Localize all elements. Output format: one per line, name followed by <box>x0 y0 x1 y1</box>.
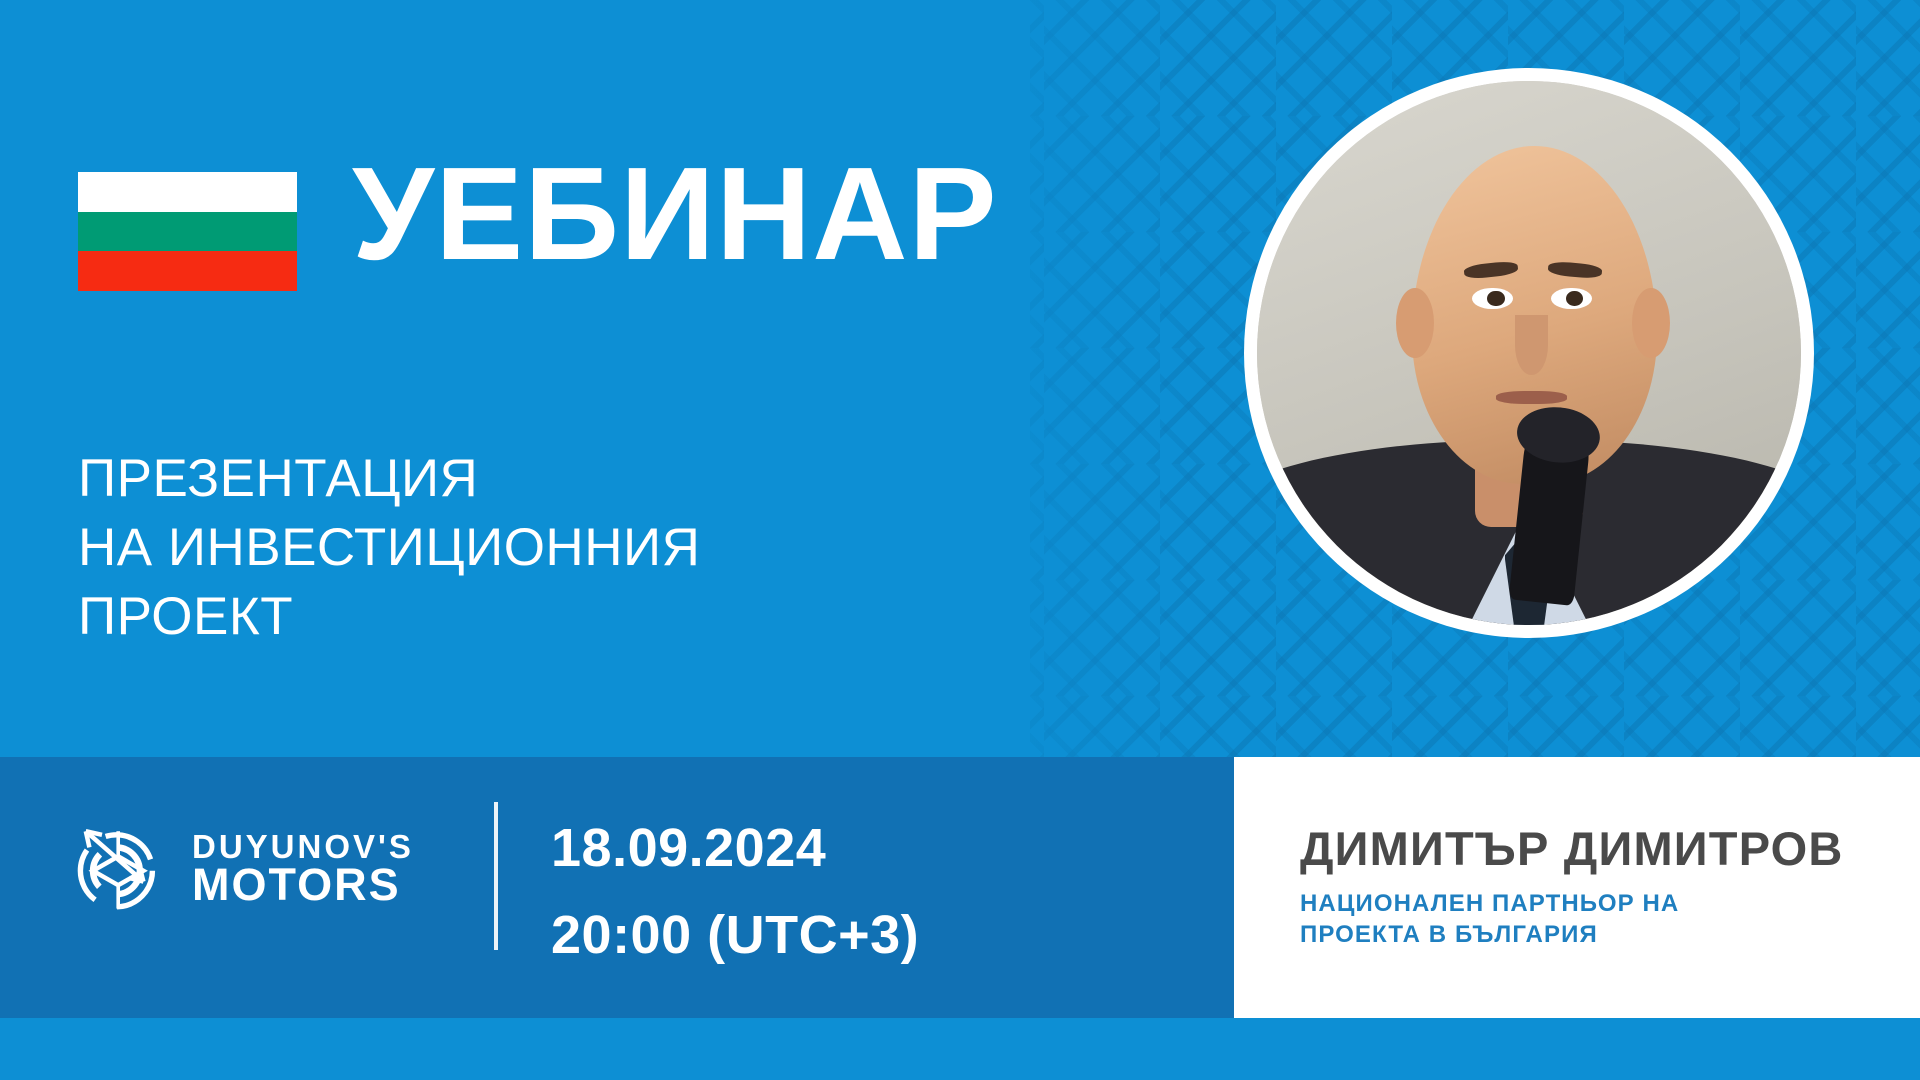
photo-eye-right <box>1551 288 1592 310</box>
speaker-photo <box>1257 81 1801 625</box>
flag-stripe-red <box>78 251 297 291</box>
photo-eye-left <box>1472 288 1513 310</box>
webinar-banner: УЕБИНАР ПРЕЗЕНТАЦИЯ НА ИНВЕСТИЦИОННИЯ ПР… <box>0 0 1920 1080</box>
subtitle-line-3: ПРОЕКТ <box>78 583 700 652</box>
duyunovs-motors-emblem-icon <box>66 815 174 923</box>
photo-ear-left <box>1396 288 1434 359</box>
subtitle-line-1: ПРЕЗЕНТАЦИЯ <box>78 445 700 514</box>
photo-pupil-right <box>1566 291 1583 307</box>
speaker-name: ДИМИТЪР ДИМИТРОВ <box>1300 825 1920 872</box>
photo-mouth <box>1496 391 1567 404</box>
speaker-role-line2: ПРОЕКТА В БЪЛГАРИЯ <box>1300 920 1920 951</box>
photo-nose <box>1515 315 1548 375</box>
brand-logo-text: DUYUNOV'S MOTORS <box>192 831 414 907</box>
speaker-avatar <box>1244 68 1814 638</box>
event-datetime: 18.09.2024 20:00 (UTC+3) <box>551 805 919 980</box>
bulgaria-flag-icon <box>78 172 297 291</box>
brand-logo[interactable]: DUYUNOV'S MOTORS <box>66 815 414 923</box>
flag-stripe-green <box>78 212 297 252</box>
speaker-info-panel: ДИМИТЪР ДИМИТРОВ НАЦИОНАЛЕН ПАРТНЬОР НА … <box>1234 757 1920 1018</box>
subtitle-line-2: НА ИНВЕСТИЦИОННИЯ <box>78 514 700 583</box>
footer-accent-bar <box>0 1018 1920 1080</box>
page-title: УЕБИНАР <box>352 148 998 280</box>
event-time: 20:00 (UTC+3) <box>551 892 919 979</box>
event-date: 18.09.2024 <box>551 805 919 892</box>
flag-stripe-white <box>78 172 297 212</box>
hero-section: УЕБИНАР ПРЕЗЕНТАЦИЯ НА ИНВЕСТИЦИОННИЯ ПР… <box>0 0 1920 757</box>
speaker-role: НАЦИОНАЛЕН ПАРТНЬОР НА ПРОЕКТА В БЪЛГАРИ… <box>1300 889 1920 950</box>
photo-pupil-left <box>1487 291 1504 307</box>
brand-logo-line2: MOTORS <box>192 863 414 907</box>
subtitle-block: ПРЕЗЕНТАЦИЯ НА ИНВЕСТИЦИОННИЯ ПРОЕКТ <box>78 445 700 652</box>
footer-divider <box>494 802 498 950</box>
speaker-role-line1: НАЦИОНАЛЕН ПАРТНЬОР НА <box>1300 889 1920 920</box>
